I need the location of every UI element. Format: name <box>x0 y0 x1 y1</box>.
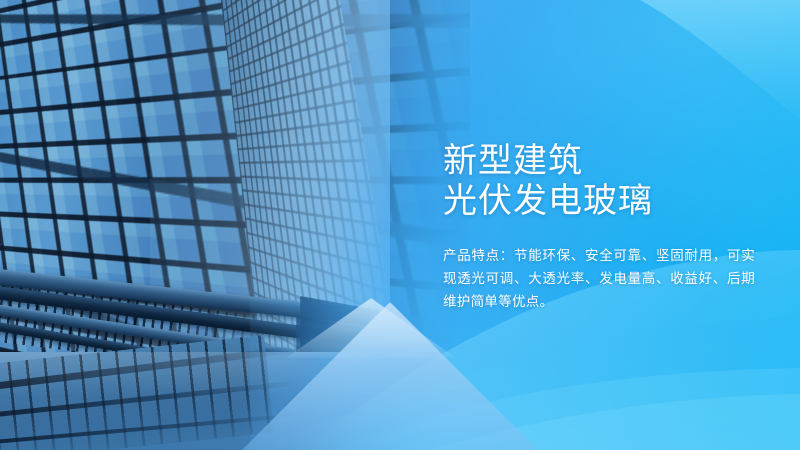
title-line-1: 新型建筑 <box>443 142 583 180</box>
wave-top-right <box>640 0 800 120</box>
product-description: 产品特点：节能环保、安全可靠、坚固耐用，可实现透光可调、大透光率、发电量高、收益… <box>443 244 755 313</box>
copy-block: 新型建筑光伏发电玻璃 产品特点：节能环保、安全可靠、坚固耐用，可实现透光可调、大… <box>443 118 763 326</box>
promo-banner: 新型建筑光伏发电玻璃 产品特点：节能环保、安全可靠、坚固耐用，可实现透光可调、大… <box>0 0 800 450</box>
title-line-2: 光伏发电玻璃 <box>443 181 763 221</box>
page-title: 新型建筑光伏发电玻璃 <box>443 141 763 221</box>
